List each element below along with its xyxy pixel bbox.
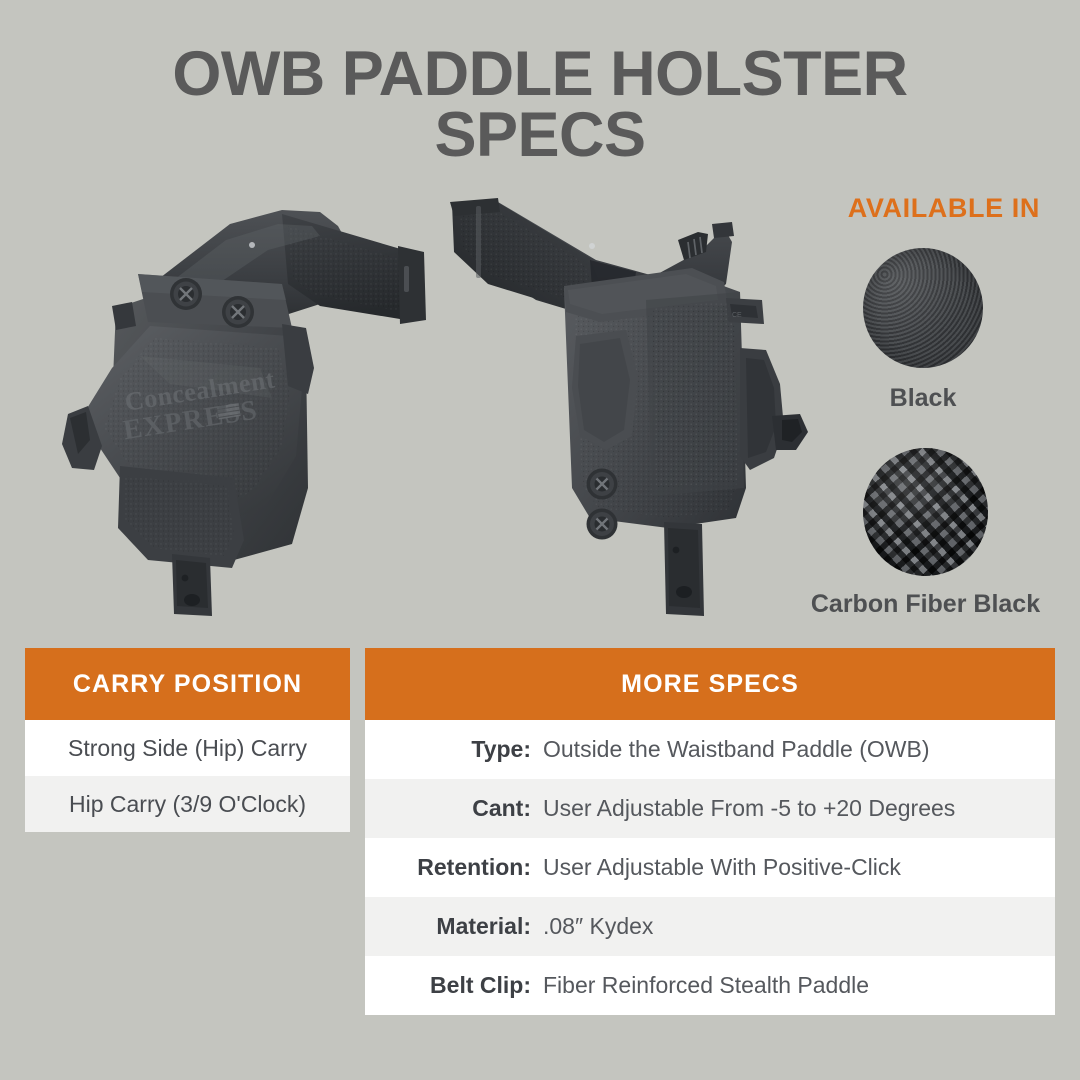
spec-value: Fiber Reinforced Stealth Paddle	[543, 972, 869, 999]
color-option-carbon-fiber-black[interactable]: Carbon Fiber Black	[863, 448, 988, 576]
spec-key: Retention:	[365, 854, 543, 881]
retention-screw-lower	[587, 509, 618, 540]
infographic-canvas: OWB PADDLE HOLSTER SPECS	[0, 0, 1080, 1080]
table-row: Belt Clip: Fiber Reinforced Stealth Padd…	[365, 956, 1055, 1015]
paddle-screw-lower	[222, 296, 254, 328]
spec-value: Outside the Waistband Paddle (OWB)	[543, 736, 930, 763]
page-title-line-2: SPECS	[0, 105, 1080, 166]
color-label-black: Black	[863, 384, 983, 413]
carry-position-table: CARRY POSITION Strong Side (Hip) Carry H…	[25, 648, 350, 832]
carry-position-value: Strong Side (Hip) Carry	[25, 735, 350, 762]
carry-position-header: CARRY POSITION	[25, 648, 350, 720]
spec-value: User Adjustable From -5 to +20 Degrees	[543, 795, 955, 822]
spec-key: Material:	[365, 913, 543, 940]
available-in-heading: AVAILABLE IN	[848, 193, 1040, 224]
table-row: Hip Carry (3/9 O'Clock)	[25, 776, 350, 832]
spec-value: .08″ Kydex	[543, 913, 653, 940]
page-title: OWB PADDLE HOLSTER SPECS	[0, 44, 1080, 166]
page-title-line-1: OWB PADDLE HOLSTER	[172, 39, 907, 109]
carry-position-value: Hip Carry (3/9 O'Clock)	[25, 791, 350, 818]
table-row: Type: Outside the Waistband Paddle (OWB)	[365, 720, 1055, 779]
paddle-screw-upper	[170, 278, 202, 310]
spec-value: User Adjustable With Positive-Click	[543, 854, 901, 881]
color-option-black[interactable]: Black	[863, 248, 983, 368]
spec-key: Belt Clip:	[365, 972, 543, 999]
table-row: Strong Side (Hip) Carry	[25, 720, 350, 776]
svg-text:CE: CE	[732, 312, 742, 319]
more-specs-table: MORE SPECS Type: Outside the Waistband P…	[365, 648, 1055, 1015]
holster-image-shell-side: CE	[440, 188, 840, 628]
color-label-carbon-fiber-black: Carbon Fiber Black	[793, 590, 1058, 619]
spec-key: Type:	[365, 736, 543, 763]
table-row: Material: .08″ Kydex	[365, 897, 1055, 956]
spec-key: Cant:	[365, 795, 543, 822]
retention-screw-upper	[587, 469, 618, 500]
carbon-fiber-swatch	[863, 448, 988, 576]
more-specs-header: MORE SPECS	[365, 648, 1055, 720]
holster-image-paddle-side: Concealment EXPRESS	[20, 188, 440, 628]
black-texture-swatch	[863, 248, 983, 368]
table-row: Cant: User Adjustable From -5 to +20 Deg…	[365, 779, 1055, 838]
table-row: Retention: User Adjustable With Positive…	[365, 838, 1055, 897]
